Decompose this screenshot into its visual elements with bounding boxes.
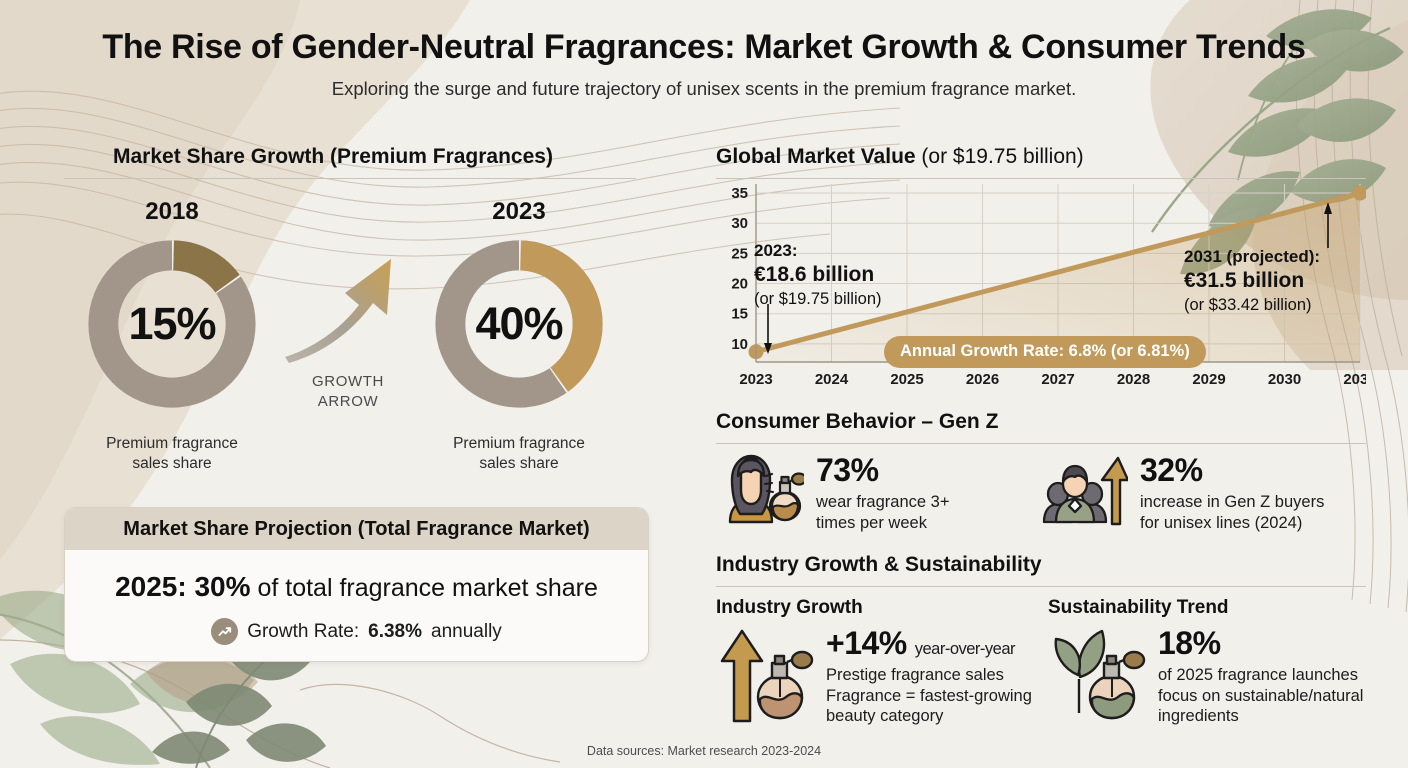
svg-text:15: 15 [731, 306, 748, 323]
sustainability-desc: of 2025 fragrance launchesfocus on susta… [1158, 665, 1363, 727]
svg-text:20: 20 [731, 276, 748, 293]
growth-rate-prefix: Growth Rate: [247, 621, 359, 643]
gen-z-wear-desc: wear fragrance 3+times per week [816, 492, 949, 533]
growth-arrow-icon [281, 245, 416, 365]
donut-2018-year: 2018 [84, 198, 260, 226]
start-anno-value: €18.6 billion [754, 261, 882, 288]
projection-card-heading: Market Share Projection (Total Fragrance… [65, 508, 648, 550]
woman-perfume-icon [718, 452, 804, 528]
stat-gen-z-buyers-increase: 32% increase in Gen Z buyersfor unisex l… [1042, 452, 1324, 533]
start-anno-label: 2023: [754, 240, 882, 261]
svg-text:2029: 2029 [1192, 371, 1225, 388]
donut-2023-value: 40% [431, 236, 607, 412]
gen-z-wear-value: 73% [816, 454, 949, 486]
global-market-heading-bold: Global Market Value [716, 145, 916, 168]
stat-gen-z-wear-frequency: 73% wear fragrance 3+times per week [718, 452, 949, 533]
market-share-heading: Market Share Growth (Premium Fragrances) [113, 145, 553, 169]
svg-text:2026: 2026 [966, 371, 999, 388]
donut-2018-caption: Premium fragrancesales share [57, 434, 287, 474]
svg-text:2023: 2023 [739, 371, 772, 388]
gen-z-buyers-desc: increase in Gen Z buyersfor unisex lines… [1140, 492, 1324, 533]
industry-growth-subheading: Industry Growth [716, 597, 863, 619]
svg-text:2025: 2025 [890, 371, 923, 388]
svg-text:25: 25 [731, 245, 748, 262]
page-subtitle: Exploring the surge and future trajector… [0, 78, 1408, 100]
sustainability-value: 18% [1158, 627, 1363, 659]
svg-text:2027: 2027 [1041, 371, 1074, 388]
gen-z-buyers-value: 32% [1140, 454, 1324, 486]
projection-main-rest: of total fragrance market share [251, 574, 598, 602]
donut-2023: 2023 40% [431, 198, 607, 408]
arrow-up-perfume-icon [718, 625, 814, 723]
sustainability-trend-subheading: Sustainability Trend [1048, 597, 1229, 619]
footer-sources: Data sources: Market research 2023-2024 [0, 744, 1408, 758]
industry-sustainability-rule [716, 586, 1366, 587]
people-arrow-up-icon [1042, 452, 1128, 528]
industry-growth-value: +14% [826, 627, 907, 659]
chart-end-annotation: 2031 (projected): €31.5 billion (or $33.… [1184, 246, 1320, 316]
leaf-perfume-icon [1050, 625, 1146, 723]
global-market-heading-light: (or $19.75 billion) [916, 145, 1084, 168]
trending-up-icon [211, 618, 238, 645]
industry-sustainability-heading: Industry Growth & Sustainability [716, 553, 1042, 577]
consumer-behavior-rule [716, 443, 1366, 444]
projection-card-main: 2025: 30% of total fragrance market shar… [65, 571, 648, 603]
industry-growth-tail: year-over-year [915, 641, 1015, 658]
growth-rate-value: 6.38% [368, 621, 422, 643]
end-anno-value: €31.5 billion [1184, 267, 1320, 294]
projection-growth-rate: Growth Rate: 6.38% annually [65, 618, 648, 645]
svg-text:35: 35 [731, 185, 748, 202]
page-title: The Rise of Gender-Neutral Fragrances: M… [0, 28, 1408, 67]
growth-arrow-label: GROWTHARROW [273, 372, 423, 411]
svg-text:30: 30 [731, 215, 748, 232]
market-share-projection-card: Market Share Projection (Total Fragrance… [64, 507, 649, 662]
stat-sustainability-trend: 18% of 2025 fragrance launchesfocus on s… [1050, 625, 1363, 727]
consumer-behavior-heading: Consumer Behavior – Gen Z [716, 410, 998, 434]
stat-industry-growth: +14% year-over-year Prestige fragrance s… [718, 625, 1032, 727]
donut-2023-year: 2023 [431, 198, 607, 226]
global-market-heading: Global Market Value (or $19.75 billion) [716, 145, 1084, 169]
start-anno-sub: (or $19.75 billion) [754, 289, 882, 310]
market-share-rule [64, 178, 636, 179]
growth-rate-suffix: annually [431, 621, 502, 643]
annual-growth-rate-pill: Annual Growth Rate: 6.8% (or 6.81%) [884, 336, 1206, 368]
projection-main-bold: 2025: 30% [115, 571, 250, 602]
end-anno-label: 2031 (projected): [1184, 246, 1320, 267]
industry-growth-desc: Prestige fragrance salesFragrance = fast… [826, 665, 1032, 727]
svg-text:2028: 2028 [1117, 371, 1150, 388]
svg-text:2031: 2031 [1343, 371, 1366, 388]
donut-2018-value: 15% [84, 236, 260, 412]
donut-2023-caption: Premium fragrancesales share [404, 434, 634, 474]
svg-text:2030: 2030 [1268, 371, 1301, 388]
chart-start-annotation: 2023: €18.6 billion (or $19.75 billion) [754, 240, 882, 310]
svg-text:10: 10 [731, 336, 748, 353]
end-anno-sub: (or $33.42 billion) [1184, 295, 1320, 316]
svg-text:2024: 2024 [815, 371, 849, 388]
donut-2018: 2018 15% [84, 198, 260, 408]
